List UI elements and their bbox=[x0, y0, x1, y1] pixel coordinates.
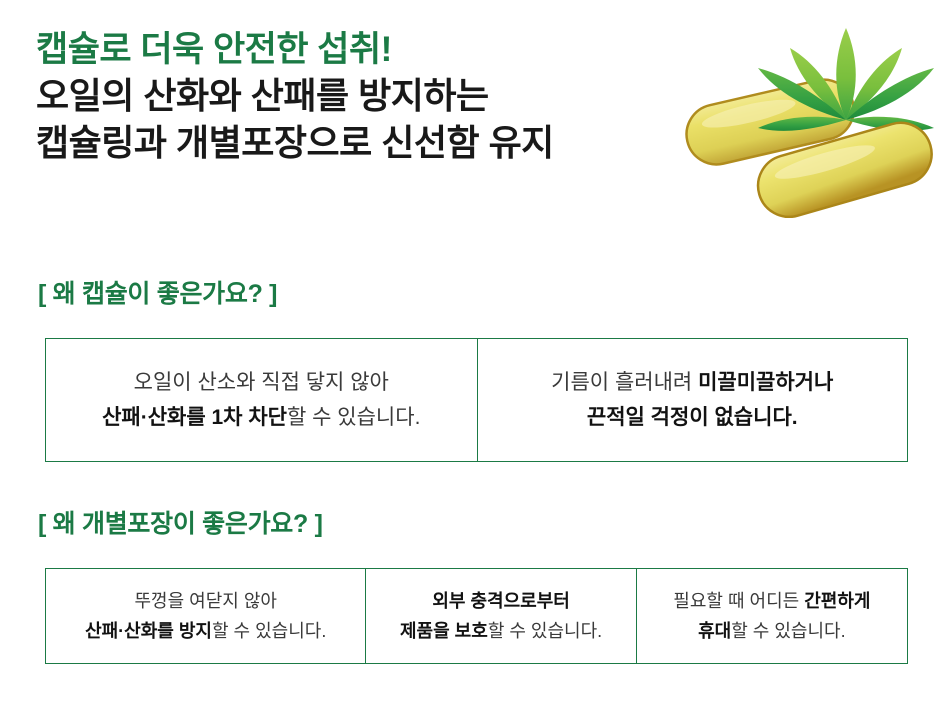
headline-line-3: 캡슐링과 개별포장으로 신선함 유지 bbox=[36, 119, 736, 166]
fact-line-2: 휴대할 수 있습니다. bbox=[698, 616, 846, 646]
table-cell-capsule-1: 오일이 산소와 직접 닿지 않아 산패·산화를 1차 차단할 수 있습니다. bbox=[46, 339, 477, 461]
section-heading-capsule: [ 왜 캡슐이 좋은가요? ] bbox=[38, 274, 277, 310]
table-cell-packaging-2: 외부 충격으로부터 제품을 보호할 수 있습니다. bbox=[365, 569, 635, 663]
fact-line-2: 산패·산화를 방지할 수 있습니다. bbox=[85, 616, 326, 646]
headline-line-1: 캡슐로 더욱 안전한 섭취! bbox=[36, 28, 736, 72]
fact-line-2: 제품을 보호할 수 있습니다. bbox=[400, 616, 602, 646]
fact-line-1: 뚜껑을 여닫지 않아 bbox=[134, 586, 276, 616]
fact-line-1: 외부 충격으로부터 bbox=[432, 586, 569, 616]
headline-block: 캡슐로 더욱 안전한 섭취! 오일의 산화와 산패를 방지하는 캡슐링과 개별포… bbox=[36, 28, 736, 166]
fact-line-1: 필요할 때 어디든 간편하게 bbox=[673, 586, 870, 616]
table-cell-packaging-1: 뚜껑을 여닫지 않아 산패·산화를 방지할 수 있습니다. bbox=[46, 569, 365, 663]
packaging-benefits-table: 뚜껑을 여닫지 않아 산패·산화를 방지할 수 있습니다. 외부 충격으로부터 … bbox=[45, 568, 908, 664]
table-cell-capsule-2: 기름이 흘러내려 미끌미끌하거나 끈적일 걱정이 없습니다. bbox=[477, 339, 908, 461]
capsule-benefits-table: 오일이 산소와 직접 닿지 않아 산패·산화를 1차 차단할 수 있습니다. 기… bbox=[45, 338, 908, 462]
fact-line-1: 기름이 흘러내려 미끌미끌하거나 bbox=[551, 365, 833, 400]
fact-line-2: 끈적일 걱정이 없습니다. bbox=[587, 400, 798, 435]
fact-line-1: 오일이 산소와 직접 닿지 않아 bbox=[134, 365, 389, 400]
table-cell-packaging-3: 필요할 때 어디든 간편하게 휴대할 수 있습니다. bbox=[636, 569, 907, 663]
headline-line-2: 오일의 산화와 산패를 방지하는 bbox=[36, 72, 736, 119]
capsules-with-hemp-leaf-illustration bbox=[678, 2, 946, 218]
section-heading-individual-packaging: [ 왜 개별포장이 좋은가요? ] bbox=[38, 504, 323, 540]
fact-line-2: 산패·산화를 1차 차단할 수 있습니다. bbox=[102, 400, 420, 435]
